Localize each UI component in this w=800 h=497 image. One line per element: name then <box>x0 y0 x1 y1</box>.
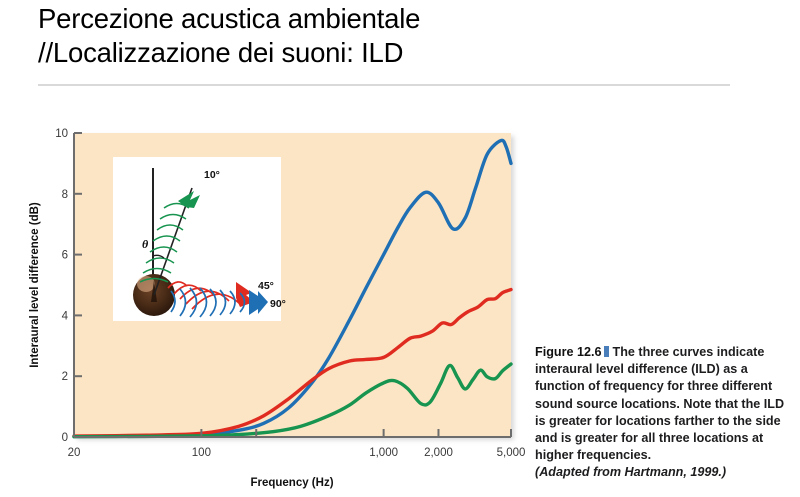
caption-accent-bar <box>604 346 609 357</box>
x-tick-label: 2,000 <box>424 447 453 459</box>
y-tick-label: 8 <box>62 189 68 201</box>
caption-source: (Adapted from Hartmann, 1999.) <box>535 464 790 481</box>
figure-caption: Figure 12.6The three curves indicate int… <box>535 344 790 482</box>
ild-chart: 10° θ 45° <box>18 96 538 496</box>
header-divider <box>38 84 730 86</box>
x-tick-label: 1,000 <box>369 447 398 459</box>
inset-label-90deg: 90° <box>270 298 286 310</box>
inset-diagram: 10° θ 45° <box>113 157 286 321</box>
figure-block: 10° θ 45° <box>0 96 800 496</box>
x-tick-label: 20 <box>68 447 81 459</box>
caption-body: The three curves indicate interaural lev… <box>535 345 784 462</box>
y-tick-label: 4 <box>62 310 69 322</box>
y-tick-label: 2 <box>62 371 68 383</box>
y-axis-title: Interaural level difference (dB) <box>29 202 41 368</box>
title-line-2: //Localizzazione dei suoni: ILD <box>38 36 738 70</box>
inset-label-10deg: 10° <box>204 169 220 181</box>
inset-label-theta: θ <box>142 237 149 251</box>
y-tick-label: 0 <box>62 432 68 444</box>
title-line-1: Percezione acustica ambientale <box>38 3 420 34</box>
x-tick-label: 100 <box>192 447 211 459</box>
page-title: Percezione acustica ambientale //Localiz… <box>38 2 738 70</box>
x-axis-title: Frequency (Hz) <box>250 477 333 489</box>
chart-canvas: 10° θ 45° <box>18 96 538 496</box>
inset-label-45deg: 45° <box>258 280 274 292</box>
slide-root: Percezione acustica ambientale //Localiz… <box>0 0 800 497</box>
x-tick-label: 5,000 <box>497 447 526 459</box>
y-tick-label: 10 <box>55 128 68 140</box>
figure-number: Figure 12.6 <box>535 345 602 359</box>
y-tick-label: 6 <box>62 250 68 262</box>
